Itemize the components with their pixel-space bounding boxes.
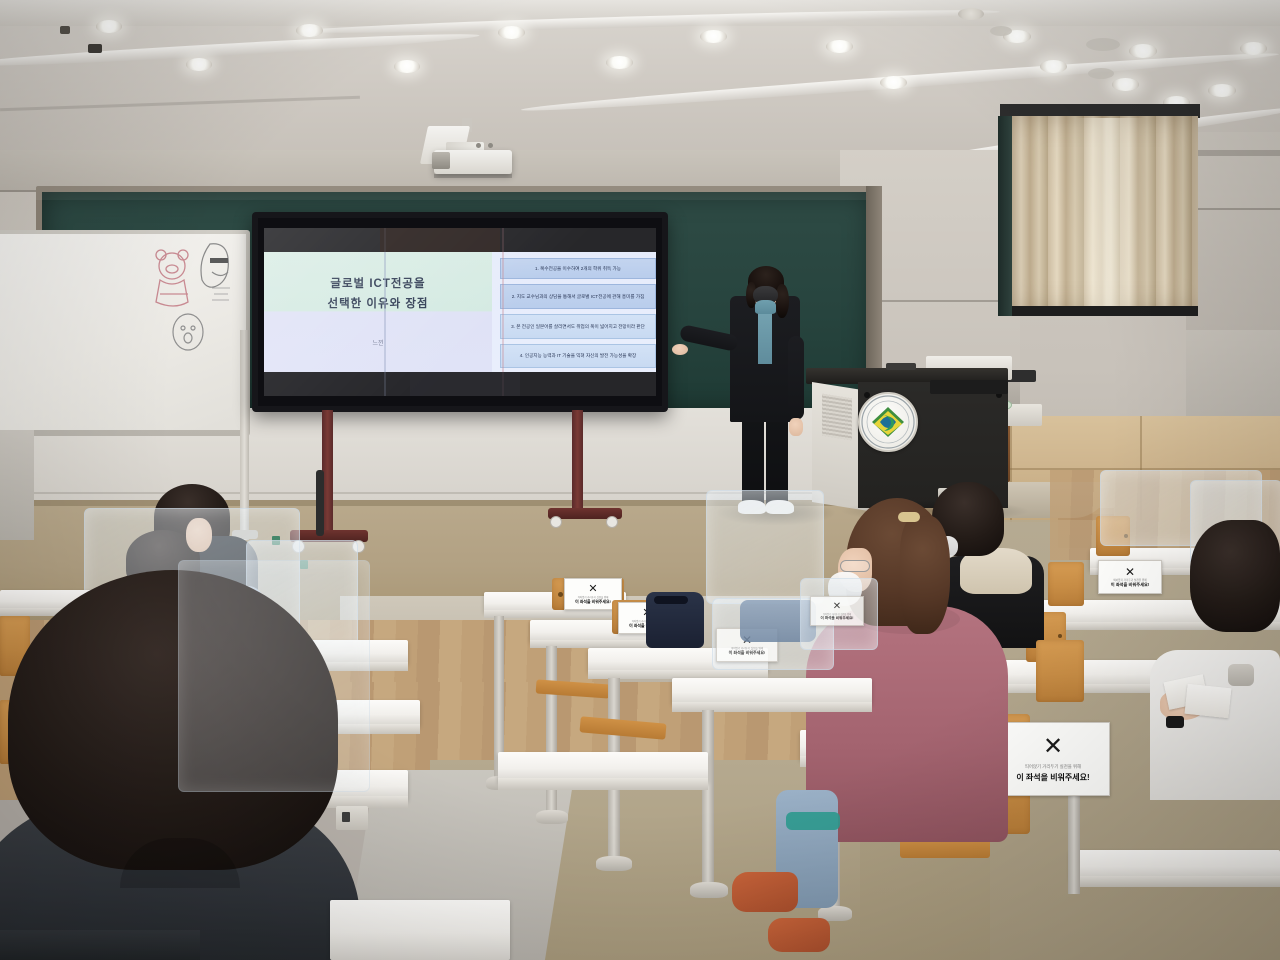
chair-back [1048,562,1084,606]
sign-main-text: 이 좌석을 비워주세요! [1111,582,1149,588]
window-frame-left [998,116,1012,316]
presenter-arm-right [788,336,804,420]
podium-emblem [858,392,918,452]
slide-title-line1: 글로벌 ICT전공을 [278,276,478,294]
podium-vent [822,394,852,441]
desk-outlet-box [336,806,368,830]
chair-seat-cushion [786,812,840,830]
sign-main-text: 이 좌석을 비워주세요! [1016,772,1089,783]
student-hair [1190,520,1280,632]
ceiling-light [394,60,420,73]
hoodie-body [0,930,200,960]
slide-bullet-2: 2. 지도 교수님과의 상담을 통해서 글로벌 ICT전공에 관해 흥미를 가짐 [500,284,656,309]
curtain-daylight [1075,118,1145,310]
desk-edge [1070,876,1280,887]
presenter-turtleneck-collar [755,300,776,314]
curtain-bottom-rail [1012,306,1198,316]
ceiling-light [606,56,633,69]
power-switch [342,812,350,822]
stand-caster [550,516,562,528]
sign-small-text: 띄어앉기 거리두기 실천을 위해 [1025,764,1081,770]
ceiling-vent [1086,38,1120,51]
slide-bullet-panel: 1. 복수전공을 이수하여 2개의 학위 취득 가능 2. 지도 교수님과의 상… [492,252,656,372]
slide: 글로벌 ICT전공을 선택한 이유와 장점 느낀 1. 복수전공을 이수하여 2… [264,252,656,372]
slide-title-line2: 선택한 이유와 장점 [278,296,478,314]
podium-monitor [930,380,1008,394]
hair-tie [898,512,920,522]
ceiling-sensor [60,26,70,34]
ceiling-light [826,40,853,53]
screen-cable [316,470,324,536]
desk-leg [546,646,557,818]
stand-caster [606,516,618,528]
wrist-watch [1166,716,1184,728]
slide-title-panel: 글로벌 ICT전공을 선택한 이유와 장점 느낀 [264,252,492,372]
projector-shadow [434,174,512,178]
student-ponytail [900,516,950,634]
sign-main-text: 이 좌석을 비워주세요! [575,599,611,605]
sign-x-icon: ✕ [1043,735,1063,759]
ceiling-light [1129,44,1157,58]
ceiling-light [1112,78,1139,91]
ceiling-light [958,8,984,20]
desk-leg [702,710,714,888]
slide-bullet-3: 3. 본 전공인 일본어를 살리면서도 취업의 폭이 넓어지고 전망이라 판단 [500,314,656,339]
presenter-hand-right [789,418,803,436]
acrylic-divider [178,560,370,792]
slide-bullet-4: 4. 인공지능 능력과 IT 기술을 익혀 자신의 발전 가능성을 확장 [500,344,656,368]
student-shoe [732,872,798,912]
seat-sign: ✕ 띄어앉기 거리두기 실천을 위해 이 좌석을 비워주세요! [1098,560,1162,594]
ceiling-light [498,26,525,39]
presenter-ponytail [776,284,789,318]
projector-knob [476,143,481,148]
ceiling-light [296,24,323,37]
display-screen: 글로벌 ICT전공을 선택한 이유와 장점 느낀 1. 복수전공을 이수하여 2… [252,212,668,412]
student-shoe [768,918,830,952]
desk-foreground [330,900,510,960]
wall-seam [1186,208,1280,210]
seat-sign: ✕ 띄어앉기 거리두기 실천을 위해 이 좌석을 비워주세요! [996,722,1110,796]
chalkboard-highlight [36,186,866,200]
desk-foot [690,882,728,898]
presenter-lapel-left [730,296,758,422]
podium-mic-base [886,363,916,370]
eyeglasses-icon [840,560,870,572]
chair-back [1036,640,1084,702]
desk-foot [536,810,568,824]
ceiling-light [1240,42,1267,55]
screen-surface: 글로벌 ICT전공을 선택한 이유와 장점 느낀 1. 복수전공을 이수하여 2… [264,228,656,396]
ceiling-vent [1088,68,1114,79]
seat-sign: ✕ 띄어앉기 거리두기 실천을 위해 이 좌석을 비워주세요! [810,596,864,626]
screen-stand-leg [572,410,583,516]
ceiling-light [1040,60,1067,73]
sign-main-text: 이 좌석을 비워주세요! [821,616,854,621]
desk-edge [484,610,626,618]
ceiling-vent [990,26,1012,36]
desk-foot [596,856,632,871]
ceiling-light [700,30,727,43]
panel-seam [1186,150,1280,156]
whiteboard-drawing [140,236,250,356]
desk-edge [498,778,708,790]
slide-bullet-1: 1. 복수전공을 이수하여 2개의 학위 취득 가능 [500,258,656,279]
whiteboard-leg-left [0,430,34,540]
chair-bolt [1058,634,1062,638]
sign-x-icon: ✕ [1125,566,1135,578]
university-emblem-icon [860,394,916,450]
slide-subtitle: 느낀 [278,338,478,347]
ceiling-light [1208,84,1236,97]
lecture-hall-photo: 글로벌 ICT전공을 선택한 이유와 장점 느낀 1. 복수전공을 이수하여 2… [0,0,1280,960]
backpack-strap [654,596,688,604]
projector-knob [488,143,493,148]
ceiling-speaker [88,44,102,53]
sign-x-icon: ✕ [833,602,841,612]
wall-panel-far-right [1186,132,1280,332]
held-object [1228,664,1254,686]
sign-main-text: 이 좌석을 비워주세요! [729,650,766,656]
projector-lens [432,152,450,169]
presenter-hand-left [672,344,688,355]
sign-x-icon: ✕ [588,584,597,595]
paper-sheet [1185,684,1232,718]
ceiling-light [880,76,907,89]
ceiling-light [96,20,122,33]
ceiling-light [186,58,212,71]
desk-center-4 [672,678,872,704]
chair-bolt [558,592,563,597]
